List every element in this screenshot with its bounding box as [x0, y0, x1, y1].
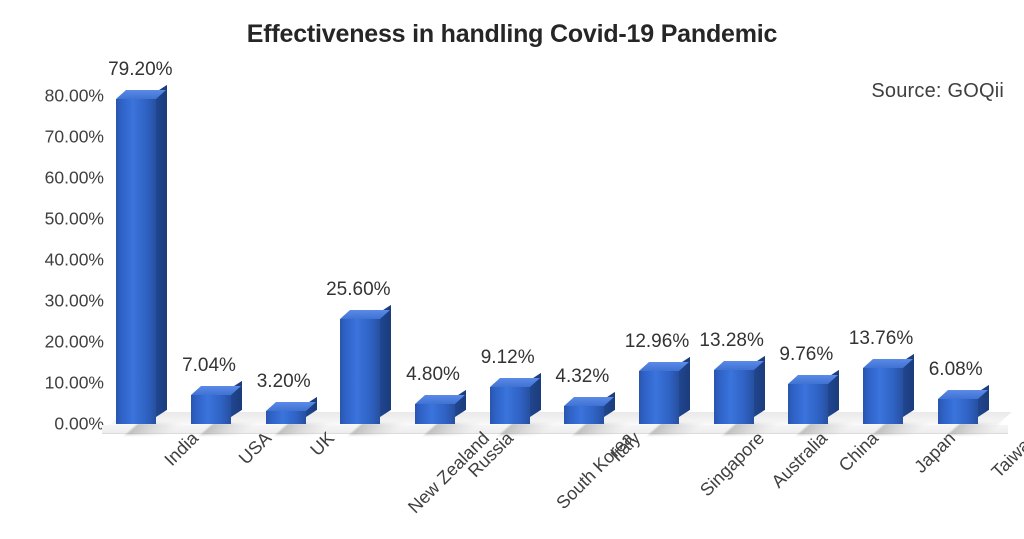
bar-item[interactable]: 6.08% [930, 96, 1004, 424]
bar-front-face [564, 406, 604, 424]
bar-3d-body[interactable] [191, 395, 231, 424]
y-axis-tick-label: 50.00% [24, 209, 104, 230]
bar-3d-body[interactable] [788, 384, 828, 424]
x-axis-category-label: China [835, 428, 883, 476]
bar-value-label: 25.60% [326, 279, 390, 301]
bar-item[interactable]: 13.28% [706, 96, 780, 424]
bar-value-label: 4.80% [406, 364, 460, 386]
bar-value-label: 12.96% [625, 331, 689, 353]
x-axis-category-label: UK [306, 428, 339, 461]
bar-3d-body[interactable] [863, 368, 903, 424]
y-axis-tick-label: 0.00% [24, 414, 104, 435]
chart-container: Effectiveness in handling Covid-19 Pande… [0, 0, 1024, 539]
bar-front-face [639, 371, 679, 424]
y-axis-tick-label: 10.00% [24, 373, 104, 394]
bar-item[interactable]: 79.20% [108, 96, 182, 424]
y-axis-tick-label: 60.00% [24, 168, 104, 189]
bar-front-face [266, 411, 306, 424]
y-axis-tick-label: 40.00% [24, 250, 104, 271]
bar-front-face [116, 99, 156, 424]
bar-3d-body[interactable] [340, 319, 380, 424]
bar-front-face [938, 399, 978, 424]
bar-3d-body[interactable] [116, 99, 156, 424]
x-axis-category-label: USA [235, 428, 276, 469]
bar-value-label: 9.76% [779, 344, 833, 366]
bar-value-label: 79.20% [108, 59, 172, 81]
bar-3d-body[interactable] [564, 406, 604, 424]
x-axis-category-label: India [161, 428, 203, 470]
y-axis-tick-label: 80.00% [24, 86, 104, 107]
y-axis-tick-label: 20.00% [24, 332, 104, 353]
bar-item[interactable]: 4.32% [556, 96, 630, 424]
bar-3d-body[interactable] [490, 387, 530, 424]
bar-item[interactable]: 13.76% [855, 96, 929, 424]
bar-3d-body[interactable] [714, 370, 754, 424]
bar-3d-body[interactable] [266, 411, 306, 424]
bar-value-label: 6.08% [929, 359, 983, 381]
x-axis: IndiaUSAUKNew ZealandRussiaSouth KoreaIt… [108, 428, 1004, 538]
chart-title: Effectiveness in handling Covid-19 Pande… [0, 20, 1024, 49]
bar-front-face [788, 384, 828, 424]
bar-front-face [340, 319, 380, 424]
bar-front-face [415, 404, 455, 424]
bar-value-label: 7.04% [182, 355, 236, 377]
y-axis-tick-label: 30.00% [24, 291, 104, 312]
bar-value-label: 13.28% [699, 330, 763, 352]
bar-series: 79.20%7.04%3.20%25.60%4.80%9.12%4.32%12.… [108, 96, 1004, 424]
bar-value-label: 3.20% [257, 371, 311, 393]
bar-value-label: 9.12% [481, 347, 535, 369]
bar-item[interactable]: 12.96% [631, 96, 705, 424]
plot-area: 79.20%7.04%3.20%25.60%4.80%9.12%4.32%12.… [108, 96, 1004, 424]
bar-side-face [380, 305, 391, 417]
bar-item[interactable]: 7.04% [183, 96, 257, 424]
y-axis: 0.00%10.00%20.00%30.00%40.00%50.00%60.00… [24, 96, 104, 424]
bar-3d-body[interactable] [639, 371, 679, 424]
bar-side-face [156, 85, 167, 417]
bar-item[interactable]: 9.76% [780, 96, 854, 424]
bar-front-face [490, 387, 530, 424]
x-axis-category-label: Singapore [696, 428, 769, 501]
bar-front-face [863, 368, 903, 424]
x-axis-category-label: Australia [767, 428, 831, 492]
bar-3d-body[interactable] [415, 404, 455, 424]
bar-value-label: 13.76% [849, 328, 913, 350]
bar-item[interactable]: 9.12% [482, 96, 556, 424]
bar-front-face [714, 370, 754, 424]
bar-3d-body[interactable] [938, 399, 978, 424]
bar-front-face [191, 395, 231, 424]
y-axis-tick-label: 70.00% [24, 127, 104, 148]
bar-item[interactable]: 25.60% [332, 96, 406, 424]
bar-item[interactable]: 4.80% [407, 96, 481, 424]
bar-side-face [604, 392, 615, 417]
bar-item[interactable]: 3.20% [258, 96, 332, 424]
bar-value-label: 4.32% [555, 366, 609, 388]
x-axis-category-label: Japan [910, 428, 960, 478]
